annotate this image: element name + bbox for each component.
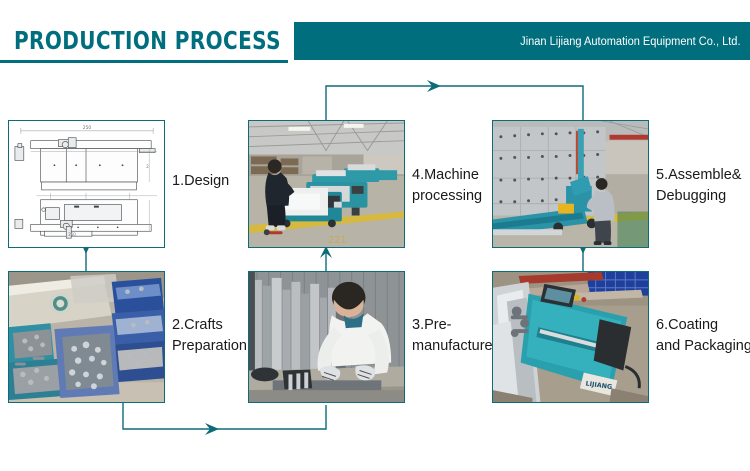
step-1-caption: 1.Design <box>172 171 252 192</box>
step-2-caption: 2.Crafts Preparation <box>172 315 258 357</box>
step-5-image <box>492 120 649 248</box>
svg-text:221: 221 <box>328 235 347 246</box>
step-6-caption: 6.Coating and Packaging <box>656 315 750 357</box>
step-4-image: 221 <box>248 120 405 248</box>
step-2-image <box>8 271 165 403</box>
connector-step2-to-step3 <box>123 403 326 435</box>
step-5-caption: 5.Assemble& Debugging <box>656 165 750 207</box>
step-6-image: LIJIANG <box>492 271 649 403</box>
page-title: PRODUCTION PROCESS <box>14 23 281 59</box>
connector-step3-to-step4 <box>320 246 332 271</box>
step-3-image <box>248 271 405 403</box>
company-name: Jinan Lijiang Automation Equipment Co., … <box>521 22 741 60</box>
process-flow: 250 <box>0 60 750 471</box>
step-1-image: 250 <box>8 120 165 248</box>
production-process-infographic: PRODUCTION PROCESS Jinan Lijiang Automat… <box>0 0 750 471</box>
page-header: PRODUCTION PROCESS Jinan Lijiang Automat… <box>0 22 750 60</box>
svg-text:250: 250 <box>68 232 76 237</box>
connector-step4-to-step5 <box>326 80 583 120</box>
svg-text:250: 250 <box>83 125 92 131</box>
